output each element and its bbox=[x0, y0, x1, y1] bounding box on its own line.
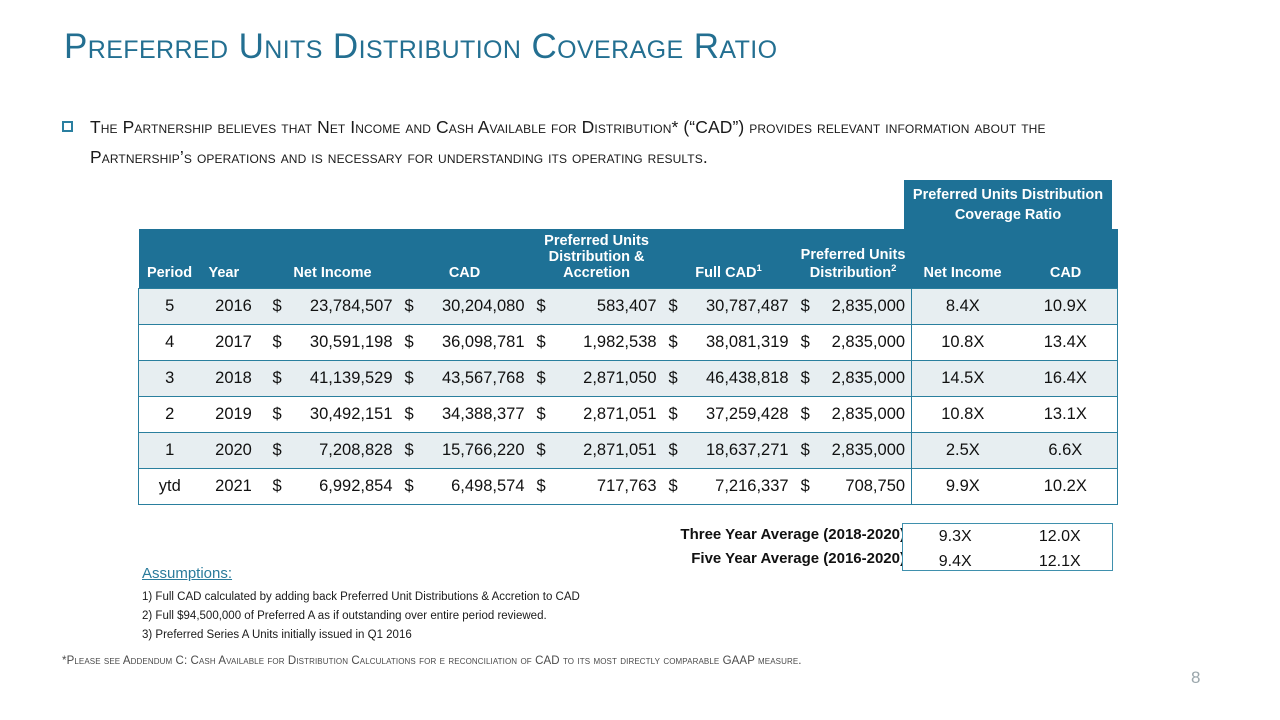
average-three-year-net-income: 9.3X bbox=[903, 524, 1008, 549]
cell-full-cad-currency: $ bbox=[663, 325, 685, 361]
footnote-text: *Please see Addendum C: Cash Available f… bbox=[62, 655, 802, 667]
cell-pud-accretion: 717,763 bbox=[553, 469, 663, 505]
cell-pud-accretion-currency: $ bbox=[531, 397, 553, 433]
cell-cad: 34,388,377 bbox=[421, 397, 531, 433]
cell-period: ytd bbox=[139, 469, 201, 505]
assumption-line-2: 2) Full $94,500,000 of Preferred A as if… bbox=[142, 607, 580, 626]
average-label-three-year: Three Year Average (2018-2020) bbox=[640, 523, 905, 547]
col-header-pref-distribution: Preferred Units Distribution2 bbox=[795, 229, 912, 289]
cell-period: 4 bbox=[139, 325, 201, 361]
cell-full-cad-currency: $ bbox=[663, 361, 685, 397]
col-header-ratio-cad: CAD bbox=[1014, 229, 1118, 289]
averages-block: Three Year Average (2018-2020) Five Year… bbox=[640, 523, 1113, 571]
col-header-net-income: Net Income bbox=[267, 229, 399, 289]
cell-cad-currency: $ bbox=[399, 469, 421, 505]
cell-net-income: 23,784,507 bbox=[289, 289, 399, 325]
cell-pud-accretion: 2,871,050 bbox=[553, 361, 663, 397]
cell-net-income-currency: $ bbox=[267, 325, 289, 361]
cell-net-income-currency: $ bbox=[267, 397, 289, 433]
cell-ratio-net-income: 8.4X bbox=[912, 289, 1014, 325]
cell-ratio-net-income: 10.8X bbox=[912, 325, 1014, 361]
table-body: 52016$23,784,507$30,204,080$583,407$30,7… bbox=[139, 289, 1118, 505]
average-five-year-net-income: 9.4X bbox=[903, 549, 1008, 574]
cell-period: 2 bbox=[139, 397, 201, 433]
cell-pud-accretion-currency: $ bbox=[531, 433, 553, 469]
cell-full-cad: 30,787,487 bbox=[685, 289, 795, 325]
cell-full-cad: 7,216,337 bbox=[685, 469, 795, 505]
col-header-period: Period bbox=[139, 229, 201, 289]
cell-pref-distribution-currency: $ bbox=[795, 469, 817, 505]
cell-full-cad-currency: $ bbox=[663, 397, 685, 433]
cell-cad-currency: $ bbox=[399, 433, 421, 469]
assumptions-section: Assumptions: 1) Full CAD calculated by a… bbox=[142, 565, 580, 645]
cell-ratio-net-income: 9.9X bbox=[912, 469, 1014, 505]
coverage-ratio-table: Period Year Net Income CAD Preferred Uni… bbox=[138, 229, 1118, 505]
cell-full-cad-currency: $ bbox=[663, 433, 685, 469]
square-bullet-icon bbox=[62, 121, 73, 132]
cell-full-cad: 38,081,319 bbox=[685, 325, 795, 361]
cell-full-cad-currency: $ bbox=[663, 469, 685, 505]
cell-ratio-cad: 13.1X bbox=[1014, 397, 1118, 433]
cell-net-income-currency: $ bbox=[267, 361, 289, 397]
cell-net-income: 6,992,854 bbox=[289, 469, 399, 505]
cell-net-income-currency: $ bbox=[267, 289, 289, 325]
bullet-paragraph: The Partnership believes that Net Income… bbox=[62, 112, 1122, 172]
cell-pref-distribution: 708,750 bbox=[817, 469, 912, 505]
cell-pref-distribution-currency: $ bbox=[795, 361, 817, 397]
cell-year: 2018 bbox=[201, 361, 267, 397]
cell-cad-currency: $ bbox=[399, 325, 421, 361]
cell-ratio-cad: 10.2X bbox=[1014, 469, 1118, 505]
table-row: 22019$30,492,151$34,388,377$2,871,051$37… bbox=[139, 397, 1118, 433]
averages-values-box: 9.3X 12.0X 9.4X 12.1X bbox=[902, 523, 1113, 571]
cell-period: 1 bbox=[139, 433, 201, 469]
cell-ratio-cad: 16.4X bbox=[1014, 361, 1118, 397]
cell-pref-distribution-currency: $ bbox=[795, 289, 817, 325]
cell-cad-currency: $ bbox=[399, 289, 421, 325]
table-row: ytd2021$6,992,854$6,498,574$717,763$7,21… bbox=[139, 469, 1118, 505]
cell-pud-accretion: 2,871,051 bbox=[553, 433, 663, 469]
cell-pud-accretion-currency: $ bbox=[531, 289, 553, 325]
cell-ratio-net-income: 14.5X bbox=[912, 361, 1014, 397]
col-header-pref-distribution-text: Preferred Units Distribution bbox=[801, 247, 906, 281]
cell-pud-accretion-currency: $ bbox=[531, 469, 553, 505]
page-number: 8 bbox=[1191, 668, 1200, 688]
cell-year: 2021 bbox=[201, 469, 267, 505]
cell-full-cad: 37,259,428 bbox=[685, 397, 795, 433]
cell-ratio-cad: 10.9X bbox=[1014, 289, 1118, 325]
table-row: 52016$23,784,507$30,204,080$583,407$30,7… bbox=[139, 289, 1118, 325]
cell-full-cad: 18,637,271 bbox=[685, 433, 795, 469]
table-row: 32018$41,139,529$43,567,768$2,871,050$46… bbox=[139, 361, 1118, 397]
cell-pref-distribution: 2,835,000 bbox=[817, 325, 912, 361]
cell-period: 3 bbox=[139, 361, 201, 397]
cell-ratio-cad: 13.4X bbox=[1014, 325, 1118, 361]
averages-row-five-year: 9.4X 12.1X bbox=[903, 549, 1112, 574]
average-five-year-cad: 12.1X bbox=[1008, 549, 1113, 574]
averages-row-three-year: 9.3X 12.0X bbox=[903, 524, 1112, 549]
cell-pud-accretion: 2,871,051 bbox=[553, 397, 663, 433]
assumption-line-3: 3) Preferred Series A Units initially is… bbox=[142, 626, 580, 645]
cell-pud-accretion: 1,982,538 bbox=[553, 325, 663, 361]
cell-ratio-net-income: 2.5X bbox=[912, 433, 1014, 469]
cell-year: 2020 bbox=[201, 433, 267, 469]
assumptions-title: Assumptions: bbox=[142, 565, 580, 582]
cell-net-income: 30,492,151 bbox=[289, 397, 399, 433]
cell-pref-distribution-currency: $ bbox=[795, 325, 817, 361]
col-header-ratio-net-income: Net Income bbox=[912, 229, 1014, 289]
average-three-year-cad: 12.0X bbox=[1008, 524, 1113, 549]
bullet-text: The Partnership believes that Net Income… bbox=[90, 112, 1122, 172]
assumption-line-1: 1) Full CAD calculated by adding back Pr… bbox=[142, 588, 580, 607]
cell-pref-distribution-currency: $ bbox=[795, 397, 817, 433]
cell-pref-distribution-currency: $ bbox=[795, 433, 817, 469]
averages-labels: Three Year Average (2018-2020) Five Year… bbox=[640, 523, 905, 571]
col-header-cad: CAD bbox=[399, 229, 531, 289]
cell-cad: 15,766,220 bbox=[421, 433, 531, 469]
cell-net-income: 7,208,828 bbox=[289, 433, 399, 469]
cell-ratio-net-income: 10.8X bbox=[912, 397, 1014, 433]
cell-net-income: 41,139,529 bbox=[289, 361, 399, 397]
cell-ratio-cad: 6.6X bbox=[1014, 433, 1118, 469]
cell-year: 2016 bbox=[201, 289, 267, 325]
table-row: 12020$7,208,828$15,766,220$2,871,051$18,… bbox=[139, 433, 1118, 469]
cell-net-income: 30,591,198 bbox=[289, 325, 399, 361]
cell-year: 2017 bbox=[201, 325, 267, 361]
table-header-row: Period Year Net Income CAD Preferred Uni… bbox=[139, 229, 1118, 289]
cell-pud-accretion-currency: $ bbox=[531, 361, 553, 397]
cell-cad-currency: $ bbox=[399, 397, 421, 433]
average-label-five-year: Five Year Average (2016-2020) bbox=[640, 547, 905, 571]
cell-year: 2019 bbox=[201, 397, 267, 433]
cell-cad: 36,098,781 bbox=[421, 325, 531, 361]
cell-period: 5 bbox=[139, 289, 201, 325]
cell-cad: 30,204,080 bbox=[421, 289, 531, 325]
col-header-pud-accretion: Preferred Units Distribution & Accretion bbox=[531, 229, 663, 289]
col-header-year: Year bbox=[201, 229, 267, 289]
cell-pud-accretion: 583,407 bbox=[553, 289, 663, 325]
cell-pref-distribution: 2,835,000 bbox=[817, 397, 912, 433]
footnote-ref-1: 1 bbox=[757, 263, 762, 274]
col-header-full-cad-text: Full CAD bbox=[695, 265, 756, 281]
col-header-pud-accretion-text: Preferred Units Distribution & Accretion bbox=[544, 233, 649, 281]
cell-net-income-currency: $ bbox=[267, 433, 289, 469]
table-row: 42017$30,591,198$36,098,781$1,982,538$38… bbox=[139, 325, 1118, 361]
cell-pud-accretion-currency: $ bbox=[531, 325, 553, 361]
span-header-coverage-ratio: Preferred Units Distribution Coverage Ra… bbox=[904, 180, 1112, 229]
cell-full-cad: 46,438,818 bbox=[685, 361, 795, 397]
cell-pref-distribution: 2,835,000 bbox=[817, 289, 912, 325]
col-header-full-cad: Full CAD1 bbox=[663, 229, 795, 289]
averages-table: 9.3X 12.0X 9.4X 12.1X bbox=[903, 524, 1112, 574]
cell-pref-distribution: 2,835,000 bbox=[817, 433, 912, 469]
cell-cad-currency: $ bbox=[399, 361, 421, 397]
cell-net-income-currency: $ bbox=[267, 469, 289, 505]
cell-cad: 43,567,768 bbox=[421, 361, 531, 397]
footnote-ref-2: 2 bbox=[891, 263, 896, 274]
page-title: Preferred Units Distribution Coverage Ra… bbox=[64, 27, 777, 67]
cell-cad: 6,498,574 bbox=[421, 469, 531, 505]
cell-full-cad-currency: $ bbox=[663, 289, 685, 325]
cell-pref-distribution: 2,835,000 bbox=[817, 361, 912, 397]
